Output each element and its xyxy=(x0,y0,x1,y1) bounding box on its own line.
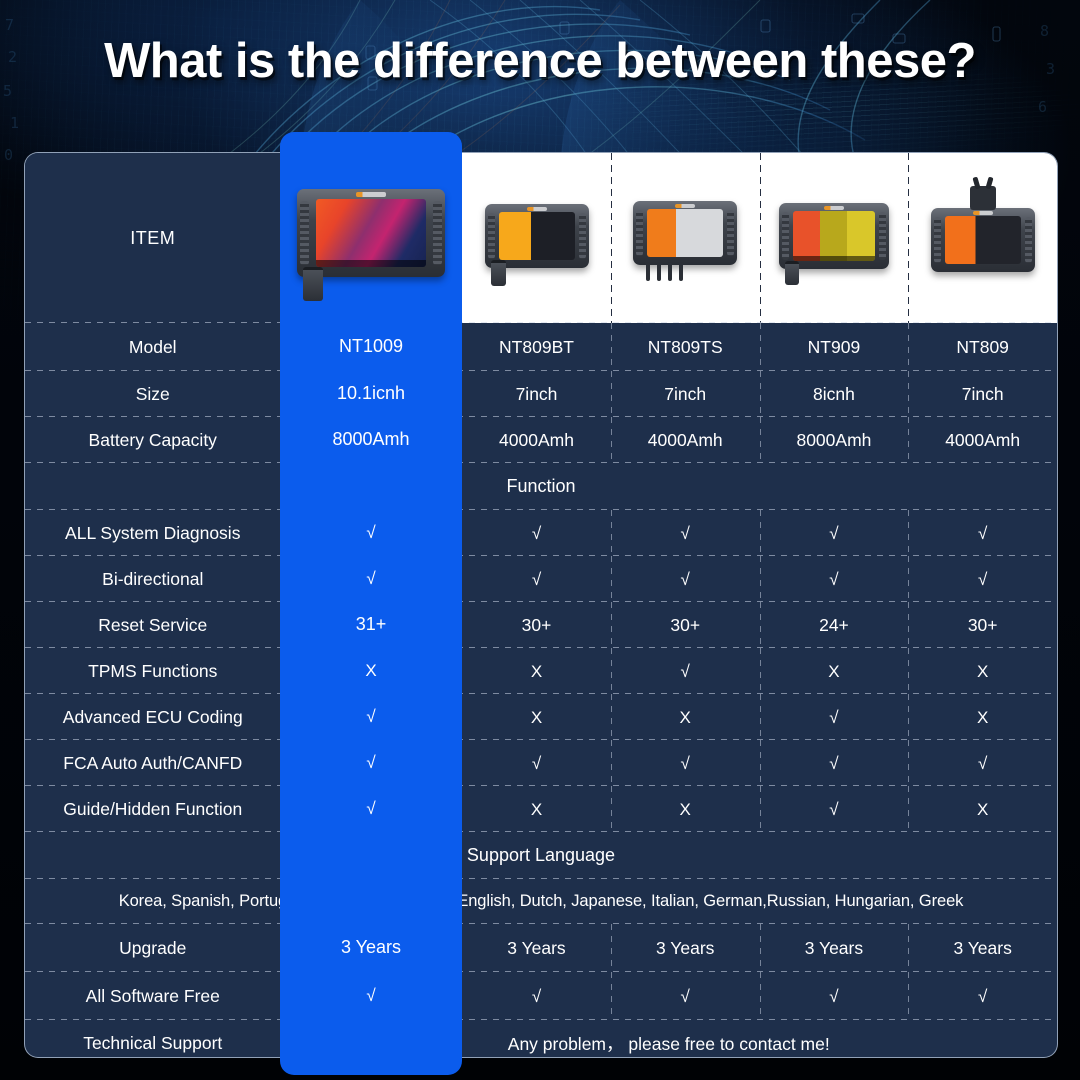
cell-size-nt809bt: 7inch xyxy=(462,371,611,417)
table-row-advanced-ecu-coding: Advanced ECU Coding √ X X √ X xyxy=(25,694,1057,740)
cell-model-nt809: NT809 xyxy=(908,323,1057,371)
section-label-support-language: Support Language xyxy=(25,832,1057,879)
cell-upgrade-nt809ts: 3 Years xyxy=(611,924,760,972)
table-row-tpms-functions: TPMS Functions X X √ X X xyxy=(25,648,1057,694)
cell-bi-directional-nt809bt: √ xyxy=(462,556,611,602)
hero-cell-size: 10.1icnh xyxy=(280,370,462,416)
cell-size-nt909: 8icnh xyxy=(760,371,909,417)
row-label-battery: Battery Capacity xyxy=(25,417,281,463)
row-label-all-system-diagnosis: ALL System Diagnosis xyxy=(25,510,281,556)
cell-tpms-functions-nt909: X xyxy=(760,648,909,694)
row-label-technical-support: Technical Support xyxy=(25,1020,281,1058)
hero-image-row xyxy=(280,152,462,322)
cell-fca-auto-auth-nt909: √ xyxy=(760,740,909,786)
table-row-battery: Battery Capacity 8000Amh 4000Amh 4000Amh… xyxy=(25,417,1057,463)
page-title: What is the difference between these? xyxy=(0,33,1080,89)
row-label-upgrade: Upgrade xyxy=(25,924,281,972)
svg-text:1: 1 xyxy=(10,114,19,132)
cell-battery-nt809: 4000Amh xyxy=(908,417,1057,463)
hero-cell-function-spacer xyxy=(280,462,462,509)
cell-all-system-diagnosis-nt809: √ xyxy=(908,510,1057,556)
cell-upgrade-nt809bt: 3 Years xyxy=(462,924,611,972)
svg-text:6: 6 xyxy=(1038,98,1047,116)
hero-cell-bi-directional: √ xyxy=(280,555,462,601)
table-row-images: ITEM xyxy=(25,153,1057,323)
table-row-guide-hidden-function: Guide/Hidden Function √ X X √ X xyxy=(25,786,1057,832)
device-image-nt809bt xyxy=(462,153,611,323)
cell-advanced-ecu-coding-nt809ts: X xyxy=(611,694,760,740)
comparison-infographic: 725 10 836 What is the difference betwee… xyxy=(0,0,1080,1080)
hero-cell-all-system-diagnosis: √ xyxy=(280,509,462,555)
cell-tpms-functions-nt809bt: X xyxy=(462,648,611,694)
hero-cell-battery: 8000Amh xyxy=(280,416,462,462)
hero-cell-reset-service: 31+ xyxy=(280,601,462,647)
cell-all-software-free-nt809bt: √ xyxy=(462,972,611,1020)
row-label-tpms-functions: TPMS Functions xyxy=(25,648,281,694)
cell-reset-service-nt809: 30+ xyxy=(908,602,1057,648)
hero-cell-all-software-free: √ xyxy=(280,971,462,1019)
comparison-table: ITEM xyxy=(24,152,1058,1058)
table-row-technical-support: Technical Support Any problem， please fr… xyxy=(25,1020,1057,1058)
row-label-bi-directional: Bi-directional xyxy=(25,556,281,602)
table-row-upgrade: Upgrade 3 Years 3 Years 3 Years 3 Years … xyxy=(25,924,1057,972)
hero-cell-tpms-functions: X xyxy=(280,647,462,693)
cell-all-system-diagnosis-nt909: √ xyxy=(760,510,909,556)
hero-cell-advanced-ecu-coding: √ xyxy=(280,693,462,739)
item-header-cell: ITEM xyxy=(25,153,281,323)
row-label-model: Model xyxy=(25,323,281,371)
cell-guide-hidden-function-nt909: √ xyxy=(760,786,909,832)
table-row-model: Model NT1009 NT809BT NT809TS NT909 NT809 xyxy=(25,323,1057,371)
highlight-column-content: NT1009 10.1icnh 8000Amh √ √ 31+ X √ √ √ … xyxy=(280,152,462,1058)
table-row-bi-directional: Bi-directional √ √ √ √ √ xyxy=(25,556,1057,602)
table-row-reset-service: Reset Service 31+ 30+ 30+ 24+ 30+ xyxy=(25,602,1057,648)
row-label-fca-auto-auth: FCA Auto Auth/CANFD xyxy=(25,740,281,786)
cell-advanced-ecu-coding-nt809: X xyxy=(908,694,1057,740)
cell-tpms-functions-nt809: X xyxy=(908,648,1057,694)
table-row-fca-auto-auth: FCA Auto Auth/CANFD √ √ √ √ √ xyxy=(25,740,1057,786)
cell-battery-nt909: 8000Amh xyxy=(760,417,909,463)
cell-fca-auto-auth-nt809ts: √ xyxy=(611,740,760,786)
cell-reset-service-nt809ts: 30+ xyxy=(611,602,760,648)
cell-all-software-free-nt809ts: √ xyxy=(611,972,760,1020)
cell-model-nt909: NT909 xyxy=(760,323,909,371)
cell-bi-directional-nt809ts: √ xyxy=(611,556,760,602)
cell-reset-service-nt809bt: 30+ xyxy=(462,602,611,648)
cell-size-nt809: 7inch xyxy=(908,371,1057,417)
cell-battery-nt809ts: 4000Amh xyxy=(611,417,760,463)
row-label-guide-hidden-function: Guide/Hidden Function xyxy=(25,786,281,832)
cell-bi-directional-nt809: √ xyxy=(908,556,1057,602)
cell-all-system-diagnosis-nt809bt: √ xyxy=(462,510,611,556)
cell-reset-service-nt909: 24+ xyxy=(760,602,909,648)
cell-upgrade-nt909: 3 Years xyxy=(760,924,909,972)
cell-size-nt809ts: 7inch xyxy=(611,371,760,417)
hero-cell-model: NT1009 xyxy=(280,322,462,370)
svg-text:0: 0 xyxy=(4,146,13,164)
row-label-size: Size xyxy=(25,371,281,417)
cell-guide-hidden-function-nt809bt: X xyxy=(462,786,611,832)
device-image-nt909 xyxy=(760,153,909,323)
cell-tpms-functions-nt809ts: √ xyxy=(611,648,760,694)
hero-cell-fca-auto-auth: √ xyxy=(280,739,462,785)
cell-fca-auto-auth-nt809: √ xyxy=(908,740,1057,786)
table-row-all-software-free: All Software Free √ √ √ √ √ xyxy=(25,972,1057,1020)
cell-guide-hidden-function-nt809: X xyxy=(908,786,1057,832)
hero-cell-language-spacer xyxy=(280,831,462,878)
cell-upgrade-nt809: 3 Years xyxy=(908,924,1057,972)
cell-guide-hidden-function-nt809ts: X xyxy=(611,786,760,832)
hero-cell-language-spacer-2 xyxy=(280,878,462,923)
cell-all-software-free-nt809: √ xyxy=(908,972,1057,1020)
cell-all-software-free-nt909: √ xyxy=(760,972,909,1020)
table-row-size: Size 10.1icnh 7inch 7inch 8icnh 7inch xyxy=(25,371,1057,417)
hero-device-image-nt1009 xyxy=(280,152,462,322)
table-row-all-system-diagnosis: ALL System Diagnosis √ √ √ √ √ xyxy=(25,510,1057,556)
device-image-nt809ts xyxy=(611,153,760,323)
cell-model-nt809ts: NT809TS xyxy=(611,323,760,371)
section-label-function: Function xyxy=(25,463,1057,510)
row-label-advanced-ecu-coding: Advanced ECU Coding xyxy=(25,694,281,740)
cell-battery-nt809bt: 4000Amh xyxy=(462,417,611,463)
hero-cell-guide-hidden-function: √ xyxy=(280,785,462,831)
cell-all-system-diagnosis-nt809ts: √ xyxy=(611,510,760,556)
cell-advanced-ecu-coding-nt909: √ xyxy=(760,694,909,740)
svg-text:7: 7 xyxy=(5,16,14,34)
row-label-all-software-free: All Software Free xyxy=(25,972,281,1020)
table-row-language-list: Korea, Spanish, Portuguese, French,Swedi… xyxy=(25,879,1057,924)
table-section-function: Function xyxy=(25,463,1057,510)
cell-model-nt809bt: NT809BT xyxy=(462,323,611,371)
cell-advanced-ecu-coding-nt809bt: X xyxy=(462,694,611,740)
table-section-support-language: Support Language xyxy=(25,832,1057,879)
hero-cell-upgrade: 3 Years xyxy=(280,923,462,971)
device-image-nt809 xyxy=(908,153,1057,323)
language-list-text: Korea, Spanish, Portuguese, French,Swedi… xyxy=(25,879,1057,924)
cell-fca-auto-auth-nt809bt: √ xyxy=(462,740,611,786)
cell-bi-directional-nt909: √ xyxy=(760,556,909,602)
row-label-reset-service: Reset Service xyxy=(25,602,281,648)
